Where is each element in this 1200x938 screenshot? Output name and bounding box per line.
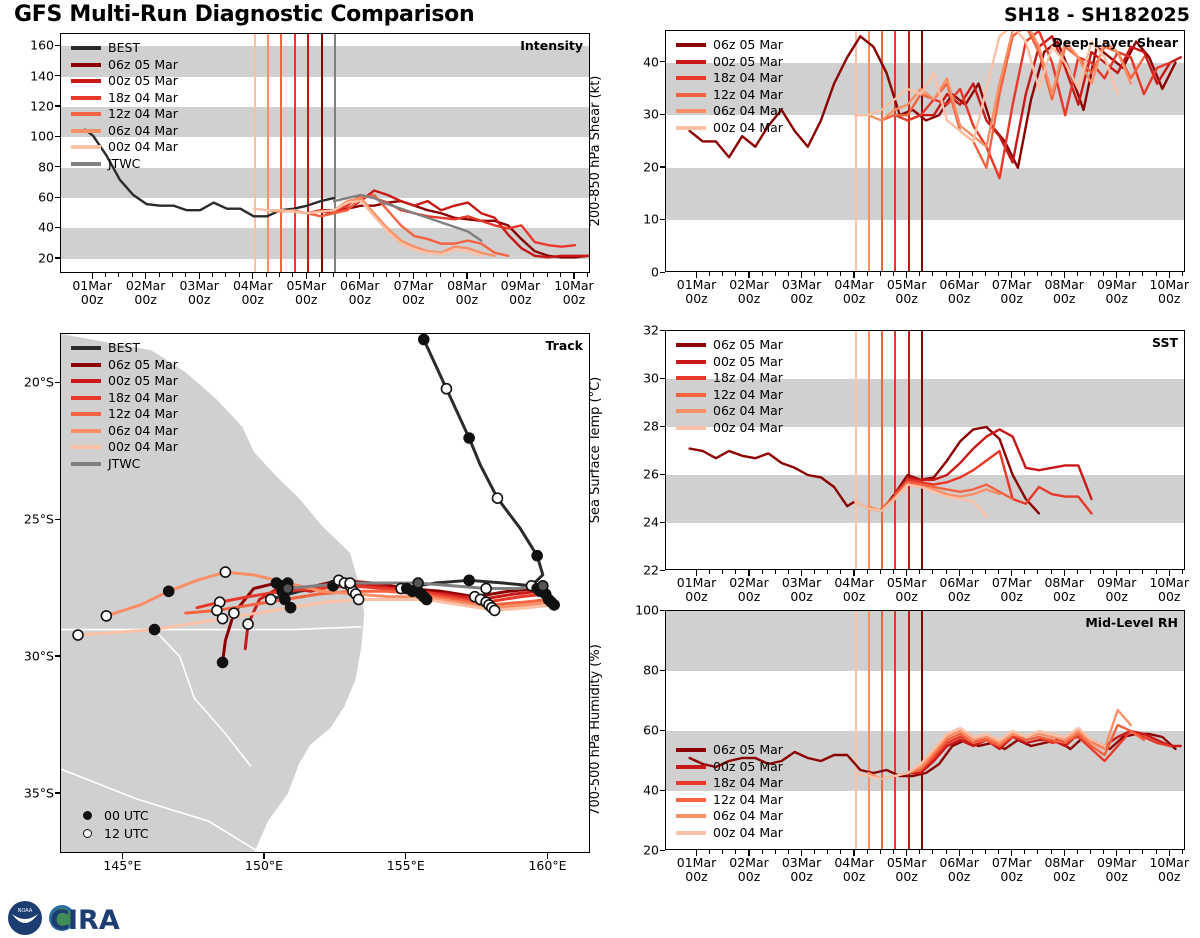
sst-xtick-09Mar: 09Mar00z (1097, 576, 1137, 604)
shear-xtick-minor (1142, 272, 1143, 276)
sst-xtick-minor (1182, 570, 1183, 574)
intensity-xtick-minor (453, 273, 454, 277)
track-marker-12utc (441, 384, 451, 394)
intensity-xtick-minor (480, 273, 481, 277)
legend-label-run_06z05: 06z 05 Mar (713, 339, 783, 352)
shear-xtick-mark (1011, 272, 1012, 278)
legend-swatch-run_06z04 (71, 129, 101, 133)
legend-label-run_18z04: 18z 04 Mar (713, 777, 783, 790)
sst-xtick-mark (1011, 570, 1012, 576)
sst-xtick-04Mar: 04Mar00z (834, 576, 874, 604)
shear-ytick-0: 0 (623, 265, 659, 280)
track-xtick-150°E: 150°E (245, 859, 283, 873)
shear-xtick-09Mar: 09Mar00z (1097, 278, 1137, 306)
sst-xtick-minor (946, 570, 947, 574)
shear-ylabel: 200-850 hPa Shear (kt) (588, 76, 603, 227)
shear-ytick-20: 20 (623, 159, 659, 174)
rh-xtick-minor (972, 850, 973, 854)
track-marker-legend: 00 UTC12 UTC (73, 806, 149, 842)
track-xtick-145°E: 145°E (103, 859, 141, 873)
sst-xtick-minor (827, 570, 828, 574)
track-legend-entry-run_12z04: 12z 04 Mar (71, 406, 178, 423)
rh-xtick-minor (985, 850, 986, 854)
track-marker-00utc (422, 594, 432, 604)
intensity-xtick-mark (145, 273, 146, 279)
sst-xtick-mark (748, 570, 749, 576)
rh-xtick-minor (1090, 850, 1091, 854)
sst-ytick-30: 30 (623, 371, 659, 386)
intensity-ytick-80: 80 (18, 159, 54, 174)
track-marker-12utc (243, 619, 253, 629)
sst-xtick-minor (985, 570, 986, 574)
legend-entry-run_18z04: 18z 04 Mar (71, 90, 178, 107)
shear-xtick-01Mar: 01Mar00z (677, 278, 717, 306)
track-ytick-20°S: 20°S (6, 375, 54, 390)
legend-label-run_00z05: 00z 05 Mar (108, 75, 178, 88)
legend-label-run_12z04: 12z 04 Mar (713, 389, 783, 402)
track-legend-label-run_00z04: 00z 04 Mar (108, 441, 178, 454)
sst-xtick-minor (1129, 570, 1130, 574)
intensity-ytick-20: 20 (18, 250, 54, 265)
intensity-ytick-160: 160 (18, 38, 54, 53)
sst-xtick-minor (722, 570, 723, 574)
intensity-xtick-minor (493, 273, 494, 277)
shear-xtick-minor (775, 272, 776, 276)
intensity-xtick-mark (413, 273, 414, 279)
rh-xtick-mark (696, 850, 697, 856)
intensity-xtick-minor (533, 273, 534, 277)
sst-ytick-32: 32 (623, 323, 659, 338)
intensity-xtick-minor (507, 273, 508, 277)
legend-entry-run_06z04: 06z 04 Mar (676, 403, 783, 420)
legend-label-run_00z04: 00z 04 Mar (108, 141, 178, 154)
legend-label-run_06z05: 06z 05 Mar (108, 59, 178, 72)
track-legend-swatch-run_00z05 (71, 379, 101, 383)
shear-xtick-10Mar: 10Mar00z (1149, 278, 1189, 306)
legend-swatch-run_12z04 (676, 798, 706, 802)
track-marker-00utc (464, 575, 474, 585)
legend-swatch-jtwc (71, 162, 101, 166)
shear-xtick-minor (880, 272, 881, 276)
intensity-xtick-09Mar: 09Mar00z (501, 279, 541, 307)
track-legend-label-run_06z05: 06z 05 Mar (108, 359, 178, 372)
rh-xtick-minor (1142, 850, 1143, 854)
sst-xtick-minor (762, 570, 763, 574)
rh-xtick-mark (1011, 850, 1012, 856)
intensity-panel-title: Intensity (520, 38, 583, 53)
track-marker-12utc (492, 493, 502, 503)
legend-entry-run_06z05: 06z 05 Mar (71, 57, 178, 74)
sst-xtick-minor (867, 570, 868, 574)
shear-ytick-10: 10 (623, 212, 659, 227)
track-xtick-160°E: 160°E (528, 859, 566, 873)
svg-text:C: C (50, 905, 70, 936)
rh-xtick-minor (932, 850, 933, 854)
legend-label-run_00z04: 00z 04 Mar (713, 122, 783, 135)
intensity-xtick-mark (359, 273, 360, 279)
shear-xtick-minor (1156, 272, 1157, 276)
legend-swatch-run_06z04 (676, 109, 706, 113)
intensity-xtick-06Mar: 06Mar00z (340, 279, 380, 307)
legend-label-run_06z04: 06z 04 Mar (713, 105, 783, 118)
legend-label-best: BEST (108, 42, 140, 55)
legend-label-run_12z04: 12z 04 Mar (108, 108, 178, 121)
legend-entry-run_00z05: 00z 05 Mar (676, 54, 783, 71)
sst-xtick-minor (814, 570, 815, 574)
legend-entry-run_06z04: 06z 04 Mar (676, 103, 783, 120)
intensity-xtick-minor (159, 273, 160, 277)
rh-xtick-minor (893, 850, 894, 854)
rh-xtick-08Mar: 08Mar00z (1044, 856, 1084, 884)
track-legend-label-run_12z04: 12z 04 Mar (108, 408, 178, 421)
marker-dot-filled (83, 811, 92, 820)
sst-ytick-26: 26 (623, 467, 659, 482)
intensity-xtick-07Mar: 07Mar00z (394, 279, 434, 307)
intensity-xtick-minor (587, 273, 588, 277)
intensity-xtick-mark (252, 273, 253, 279)
rh-xtick-minor (1129, 850, 1130, 854)
legend-swatch-run_00z05 (676, 60, 706, 64)
track-marker-00utc (419, 334, 429, 344)
rh-xtick-10Mar: 10Mar00z (1149, 856, 1189, 884)
track-marker-00utc (549, 600, 559, 610)
rh-xtick-minor (814, 850, 815, 854)
shear-xtick-minor (919, 272, 920, 276)
sst-panel-title: SST (1152, 335, 1178, 350)
sst-xtick-07Mar: 07Mar00z (992, 576, 1032, 604)
noaa-logo-icon (8, 901, 42, 935)
intensity-xtick-minor (212, 273, 213, 277)
track-marker-12utc (229, 608, 239, 618)
noaa-cira-logo: NOAA C IRA (6, 898, 156, 938)
intensity-xtick-02Mar: 02Mar00z (126, 279, 166, 307)
sst-xtick-mark (959, 570, 960, 576)
track-marker-00utc (413, 578, 423, 588)
legend-entry-run_00z05: 00z 05 Mar (676, 354, 783, 371)
intensity-xtick-minor (386, 273, 387, 277)
track-xtick-mark (122, 853, 123, 859)
rh-xtick-mark (1169, 850, 1170, 856)
legend-label-run_06z05: 06z 05 Mar (713, 744, 783, 757)
shear-xtick-mark (1116, 272, 1117, 278)
intensity-xtick-minor (105, 273, 106, 277)
marker-legend-label: 12 UTC (104, 826, 149, 841)
intensity-xtick-mark (520, 273, 521, 279)
legend-entry-run_18z04: 18z 04 Mar (676, 775, 783, 792)
legend-swatch-run_06z05 (676, 748, 706, 752)
legend-swatch-run_18z04 (676, 781, 706, 785)
intensity-xtick-minor (225, 273, 226, 277)
legend-label-run_00z04: 00z 04 Mar (713, 422, 783, 435)
rh-xtick-minor (735, 850, 736, 854)
intensity-xtick-minor (426, 273, 427, 277)
track-legend-swatch-run_06z04 (71, 429, 101, 433)
rh-xtick-03Mar: 03Mar00z (782, 856, 822, 884)
track-plot-area: BEST06z 05 Mar00z 05 Mar18z 04 Mar12z 04… (60, 333, 590, 853)
track-xtick-155°E: 155°E (387, 859, 425, 873)
rh-xtick-06Mar: 06Mar00z (939, 856, 979, 884)
shear-xtick-minor (1037, 272, 1038, 276)
track-legend-label-run_18z04: 18z 04 Mar (108, 392, 178, 405)
sst-xtick-03Mar: 03Mar00z (782, 576, 822, 604)
intensity-xtick-mark (306, 273, 307, 279)
shear-xtick-minor (1103, 272, 1104, 276)
intensity-xtick-minor (118, 273, 119, 277)
shear-xtick-minor (762, 272, 763, 276)
legend-swatch-best (71, 46, 101, 50)
legend-entry-run_18z04: 18z 04 Mar (676, 70, 783, 87)
sst-xtick-minor (1024, 570, 1025, 574)
legend-entry-run_00z05: 00z 05 Mar (71, 73, 178, 90)
intensity-xtick-minor (373, 273, 374, 277)
track-marker-12utc (218, 614, 228, 624)
legend-entry-run_06z05: 06z 05 Mar (676, 742, 783, 759)
rh-xtick-mark (748, 850, 749, 856)
track-marker-00utc (218, 657, 228, 667)
rh-ytick-100: 100 (623, 603, 659, 618)
page-title: GFS Multi-Run Diagnostic Comparison (14, 2, 474, 27)
track-ytick-25°S: 25°S (6, 512, 54, 527)
track-xtick-mark (547, 853, 548, 859)
legend-entry-run_12z04: 12z 04 Mar (676, 87, 783, 104)
legend-label-run_12z04: 12z 04 Mar (713, 89, 783, 102)
shear-xtick-06Mar: 06Mar00z (939, 278, 979, 306)
shear-plot-area: 06z 05 Mar00z 05 Mar18z 04 Mar12z 04 Mar… (665, 30, 1185, 272)
sst-xtick-mark (801, 570, 802, 576)
series-line-06z-05-mar (690, 427, 1039, 513)
sst-xtick-minor (788, 570, 789, 574)
track-marker-00utc (286, 603, 296, 613)
legend-label-run_06z05: 06z 05 Mar (713, 39, 783, 52)
legend-swatch-run_18z04 (676, 76, 706, 80)
marker-legend-label: 00 UTC (104, 808, 149, 823)
track-marker-12utc (266, 594, 276, 604)
marker-legend-open: 12 UTC (73, 824, 149, 842)
sst-xtick-minor (1077, 570, 1078, 574)
sst-ytick-22: 22 (623, 563, 659, 578)
sst-xtick-mark (853, 570, 854, 576)
sst-xtick-minor (1142, 570, 1143, 574)
legend-label-run_18z04: 18z 04 Mar (713, 372, 783, 385)
shear-xtick-minor (722, 272, 723, 276)
legend-swatch-run_00z05 (676, 360, 706, 364)
track-marker-12utc (490, 605, 500, 615)
shear-xtick-minor (788, 272, 789, 276)
rh-xtick-01Mar: 01Mar00z (677, 856, 717, 884)
track-legend-swatch-run_00z04 (71, 445, 101, 449)
intensity-xtick-minor (172, 273, 173, 277)
shear-xtick-08Mar: 08Mar00z (1044, 278, 1084, 306)
shear-xtick-mark (748, 272, 749, 278)
track-line-best (271, 339, 543, 599)
track-legend-label-best: BEST (108, 342, 140, 355)
sst-xtick-minor (709, 570, 710, 574)
legend-label-run_00z05: 00z 05 Mar (713, 761, 783, 774)
track-legend-swatch-run_12z04 (71, 412, 101, 416)
track-marker-12utc (73, 630, 83, 640)
intensity-xtick-minor (346, 273, 347, 277)
svg-text:IRA: IRA (68, 905, 120, 936)
legend-swatch-run_00z05 (71, 79, 101, 83)
legend-swatch-run_06z05 (676, 43, 706, 47)
shear-xtick-minor (735, 272, 736, 276)
intensity-xtick-minor (399, 273, 400, 277)
legend-swatch-run_12z04 (676, 393, 706, 397)
rh-ytick-80: 80 (623, 663, 659, 678)
shear-xtick-mark (1169, 272, 1170, 278)
shear-ytick-30: 30 (623, 107, 659, 122)
series-line-00z-04-mar (855, 485, 986, 516)
shear-legend: 06z 05 Mar00z 05 Mar18z 04 Mar12z 04 Mar… (676, 37, 783, 136)
shear-xtick-05Mar: 05Mar00z (887, 278, 927, 306)
rh-xtick-mark (1116, 850, 1117, 856)
sst-xtick-minor (1156, 570, 1157, 574)
intensity-xtick-minor (185, 273, 186, 277)
intensity-xtick-minor (560, 273, 561, 277)
shear-xtick-minor (998, 272, 999, 276)
shear-xtick-minor (1129, 272, 1130, 276)
track-legend-entry-run_06z05: 06z 05 Mar (71, 357, 178, 374)
rh-xtick-minor (1103, 850, 1104, 854)
rh-panel-title: Mid-Level RH (1085, 615, 1178, 630)
track-ytick-35°S: 35°S (6, 785, 54, 800)
shear-xtick-minor (814, 272, 815, 276)
rh-xtick-minor (775, 850, 776, 854)
legend-swatch-run_00z04 (71, 145, 101, 149)
track-marker-00utc (532, 551, 542, 561)
shear-xtick-mark (696, 272, 697, 278)
rh-plot-area: 06z 05 Mar00z 05 Mar18z 04 Mar12z 04 Mar… (665, 610, 1185, 850)
sst-xtick-minor (919, 570, 920, 574)
rh-xtick-mark (1064, 850, 1065, 856)
marker-dot-open (83, 829, 92, 838)
sst-legend: 06z 05 Mar00z 05 Mar18z 04 Mar12z 04 Mar… (676, 337, 783, 436)
rh-xtick-minor (946, 850, 947, 854)
shear-xtick-minor (893, 272, 894, 276)
track-xtick-mark (405, 853, 406, 859)
shear-xtick-minor (1077, 272, 1078, 276)
legend-swatch-run_00z04 (676, 426, 706, 430)
shear-xtick-02Mar: 02Mar00z (729, 278, 769, 306)
track-legend-entry-run_00z05: 00z 05 Mar (71, 373, 178, 390)
rh-ylabel: 700-500 hPa Humidity (%) (588, 644, 603, 816)
intensity-xtick-04Mar: 04Mar00z (233, 279, 273, 307)
legend-entry-run_00z04: 00z 04 Mar (676, 420, 783, 437)
sst-xtick-01Mar: 01Mar00z (677, 576, 717, 604)
rh-xtick-05Mar: 05Mar00z (887, 856, 927, 884)
track-legend-swatch-best (71, 346, 101, 350)
legend-entry-run_06z05: 06z 05 Mar (676, 337, 783, 354)
series-line-00z-04-mar (855, 728, 1104, 779)
series-line-18z-04-mar (894, 451, 1091, 513)
svg-text:NOAA: NOAA (18, 908, 33, 914)
rh-legend: 06z 05 Mar00z 05 Mar18z 04 Mar12z 04 Mar… (676, 742, 783, 841)
intensity-xtick-mark (466, 273, 467, 279)
sst-xtick-minor (840, 570, 841, 574)
intensity-xtick-mark (573, 273, 574, 279)
track-legend-entry-run_18z04: 18z 04 Mar (71, 390, 178, 407)
legend-swatch-run_00z04 (676, 126, 706, 130)
track-xtick-mark (263, 853, 264, 859)
sst-xtick-05Mar: 05Mar00z (887, 576, 927, 604)
track-legend-swatch-run_18z04 (71, 396, 101, 400)
rh-xtick-minor (1024, 850, 1025, 854)
legend-swatch-run_06z05 (676, 343, 706, 347)
track-marker-12utc (354, 594, 364, 604)
sst-xtick-mark (906, 570, 907, 576)
rh-xtick-minor (919, 850, 920, 854)
sst-xtick-minor (1090, 570, 1091, 574)
sst-plot-area: 06z 05 Mar00z 05 Mar18z 04 Mar12z 04 Mar… (665, 330, 1185, 570)
legend-swatch-run_12z04 (676, 93, 706, 97)
sst-xtick-minor (1103, 570, 1104, 574)
sst-xtick-mark (1169, 570, 1170, 576)
rh-xtick-minor (1037, 850, 1038, 854)
intensity-xtick-mark (199, 273, 200, 279)
legend-entry-jtwc: JTWC (71, 156, 178, 173)
rh-xtick-minor (709, 850, 710, 854)
shear-xtick-03Mar: 03Mar00z (782, 278, 822, 306)
track-panel-title: Track (546, 338, 583, 353)
rh-xtick-09Mar: 09Mar00z (1097, 856, 1137, 884)
rh-xtick-07Mar: 07Mar00z (992, 856, 1032, 884)
intensity-ytick-120: 120 (18, 98, 54, 113)
intensity-xtick-minor (547, 273, 548, 277)
intensity-xtick-01Mar: 01Mar00z (72, 279, 112, 307)
track-legend-entry-run_00z04: 00z 04 Mar (71, 439, 178, 456)
track-legend-entry-jtwc: JTWC (71, 456, 178, 473)
shear-ytick-40: 40 (623, 54, 659, 69)
legend-entry-run_06z05: 06z 05 Mar (676, 37, 783, 54)
sst-xtick-minor (932, 570, 933, 574)
track-marker-00utc (164, 586, 174, 596)
rh-xtick-mark (853, 850, 854, 856)
rh-ytick-40: 40 (623, 783, 659, 798)
legend-entry-run_06z04: 06z 04 Mar (71, 123, 178, 140)
rh-xtick-minor (1051, 850, 1052, 854)
track-legend-label-jtwc: JTWC (108, 458, 140, 471)
legend-entry-run_12z04: 12z 04 Mar (676, 792, 783, 809)
shear-xtick-mark (853, 272, 854, 278)
legend-swatch-run_06z04 (676, 814, 706, 818)
shear-xtick-07Mar: 07Mar00z (992, 278, 1032, 306)
shear-xtick-minor (840, 272, 841, 276)
rh-xtick-minor (998, 850, 999, 854)
rh-xtick-minor (840, 850, 841, 854)
legend-swatch-run_06z05 (71, 63, 101, 67)
shear-xtick-minor (946, 272, 947, 276)
legend-label-run_06z04: 06z 04 Mar (713, 405, 783, 418)
track-marker-00utc (464, 433, 474, 443)
sst-ylabel: Sea Surface Temp (°C) (588, 377, 603, 524)
rh-xtick-minor (1156, 850, 1157, 854)
legend-entry-run_18z04: 18z 04 Mar (676, 370, 783, 387)
legend-swatch-run_06z04 (676, 409, 706, 413)
legend-entry-run_00z04: 00z 04 Mar (71, 139, 178, 156)
sst-xtick-minor (775, 570, 776, 574)
shear-xtick-mark (906, 272, 907, 278)
track-legend: BEST06z 05 Mar00z 05 Mar18z 04 Mar12z 04… (71, 340, 178, 472)
legend-label-run_06z04: 06z 04 Mar (713, 810, 783, 823)
legend-swatch-run_18z04 (676, 376, 706, 380)
sst-xtick-minor (735, 570, 736, 574)
track-marker-00utc (283, 584, 293, 594)
intensity-xtick-minor (279, 273, 280, 277)
shear-panel-title: Deep-Layer Shear (1052, 35, 1178, 50)
shear-xtick-minor (1051, 272, 1052, 276)
intensity-xtick-05Mar: 05Mar00z (287, 279, 327, 307)
legend-label-run_12z04: 12z 04 Mar (713, 794, 783, 807)
